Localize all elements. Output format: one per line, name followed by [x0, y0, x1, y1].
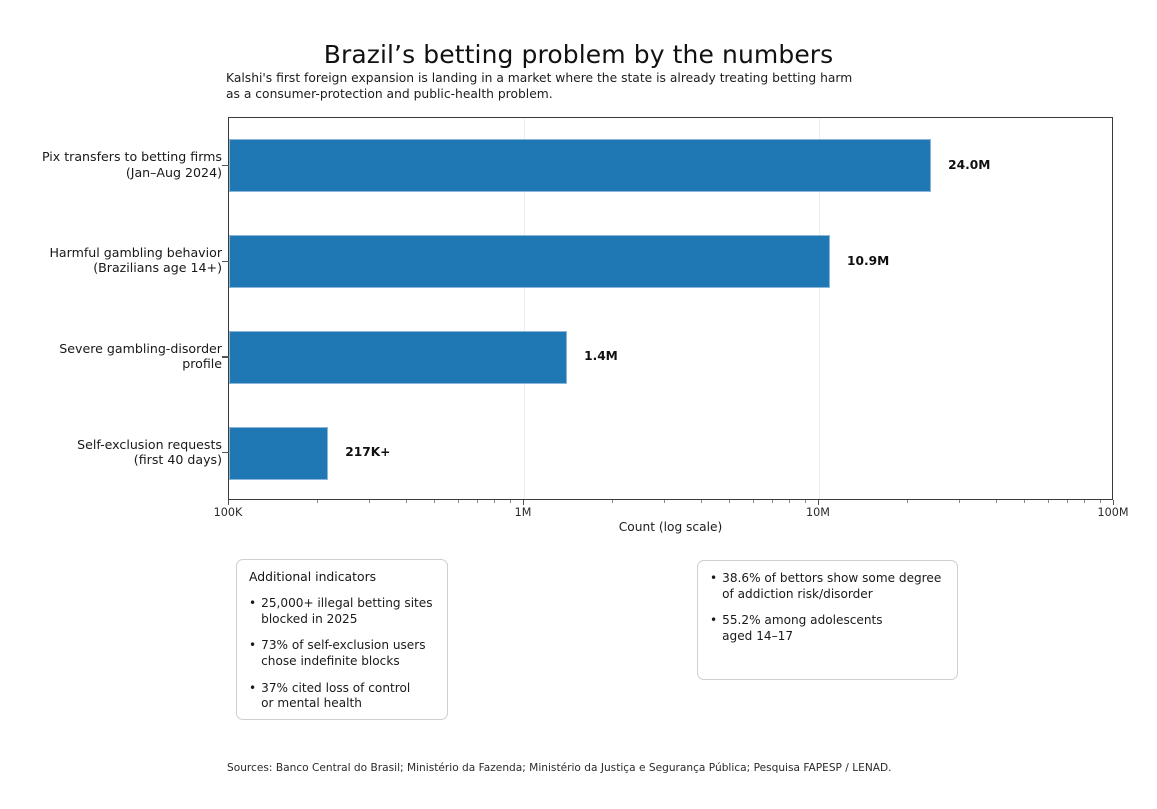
x-axis-tick-label: 100M: [1097, 506, 1128, 519]
x-axis-minor-tick: [772, 500, 773, 503]
y-axis-label: Severe gambling-disorder profile: [12, 341, 222, 372]
bullet-icon: •: [249, 638, 256, 669]
sources-footnote: Sources: Banco Central do Brasil; Minist…: [227, 762, 892, 774]
bar-value-label: 10.9M: [847, 255, 889, 267]
addiction-stats-box: •38.6% of bettors show some degree of ad…: [697, 560, 958, 680]
x-axis-minor-tick: [1048, 500, 1049, 503]
bar: [229, 427, 328, 480]
addiction-stats-list: •38.6% of bettors show some degree of ad…: [710, 571, 945, 645]
bullet-icon: •: [249, 596, 256, 627]
additional-indicator-item: •73% of self-exclusion users chose indef…: [249, 638, 435, 669]
x-axis-minor-tick: [996, 500, 997, 503]
addiction-stat-item: •38.6% of bettors show some degree of ad…: [710, 571, 945, 602]
additional-indicators-title: Additional indicators: [249, 570, 435, 585]
additional-indicator-item: •37% cited loss of control or mental hea…: [249, 681, 435, 712]
y-axis-tick: [222, 261, 229, 262]
x-axis-minor-tick: [317, 500, 318, 503]
additional-indicators-box: Additional indicators •25,000+ illegal b…: [236, 559, 448, 720]
x-axis-minor-tick: [907, 500, 908, 503]
additional-indicator-item-text: 37% cited loss of control or mental heal…: [261, 681, 410, 712]
additional-indicator-item-text: 73% of self-exclusion users chose indefi…: [261, 638, 425, 669]
addiction-stat-item-text: 38.6% of bettors show some degree of add…: [722, 571, 941, 602]
y-axis-category-labels: Pix transfers to betting firms (Jan–Aug …: [10, 117, 222, 500]
bar-value-label: 1.4M: [584, 350, 618, 362]
x-axis-label: Count (log scale): [228, 520, 1113, 534]
x-axis-tick: [818, 500, 819, 505]
x-axis-minor-tick: [434, 500, 435, 503]
additional-indicators-list: •25,000+ illegal betting sites blocked i…: [249, 596, 435, 712]
x-axis-minor-tick: [701, 500, 702, 503]
x-axis-minor-tick: [1084, 500, 1085, 503]
x-axis-tick-label: 10M: [806, 506, 830, 519]
x-axis-minor-tick: [959, 500, 960, 503]
bar-value-label: 24.0M: [948, 159, 990, 171]
x-axis-minor-tick: [612, 500, 613, 503]
bar: [229, 331, 567, 384]
x-axis-minor-tick: [477, 500, 478, 503]
x-axis-minor-tick: [753, 500, 754, 503]
bar: [229, 139, 931, 192]
title-block: Brazil’s betting problem by the numbers: [0, 40, 1157, 70]
x-axis-minor-tick: [458, 500, 459, 503]
x-axis-tick: [523, 500, 524, 505]
x-axis-minor-tick: [789, 500, 790, 503]
x-axis-minor-tick: [369, 500, 370, 503]
x-axis-minor-tick: [494, 500, 495, 503]
x-axis-minor-tick: [1067, 500, 1068, 503]
y-axis-tick: [222, 452, 229, 453]
x-axis-tick: [228, 500, 229, 505]
bar: [229, 235, 830, 288]
x-axis-minor-tick: [805, 500, 806, 503]
additional-indicator-item: •25,000+ illegal betting sites blocked i…: [249, 596, 435, 627]
x-axis-minor-tick: [1024, 500, 1025, 503]
x-axis-minor-tick: [729, 500, 730, 503]
bullet-icon: •: [710, 613, 717, 644]
x-axis-tick-label: 1M: [515, 506, 532, 519]
x-axis-tick: [1113, 500, 1114, 505]
bullet-icon: •: [710, 571, 717, 602]
y-axis-tick: [222, 165, 229, 166]
y-axis-label: Harmful gambling behavior (Brazilians ag…: [12, 245, 222, 276]
addiction-stat-item: •55.2% among adolescents aged 14–17: [710, 613, 945, 644]
y-axis-label: Pix transfers to betting firms (Jan–Aug …: [12, 149, 222, 180]
x-axis-tick-label: 100K: [214, 506, 243, 519]
plot-area: [228, 117, 1113, 500]
page-title: Brazil’s betting problem by the numbers: [0, 40, 1157, 70]
x-axis-minor-tick: [406, 500, 407, 503]
x-axis-minor-tick: [510, 500, 511, 503]
y-axis-label: Self-exclusion requests (first 40 days): [12, 437, 222, 468]
x-axis-minor-tick: [664, 500, 665, 503]
x-axis-minor-tick: [1100, 500, 1101, 503]
additional-indicator-item-text: 25,000+ illegal betting sites blocked in…: [261, 596, 432, 627]
addiction-stat-item-text: 55.2% among adolescents aged 14–17: [722, 613, 882, 644]
bar-value-label: 217K+: [345, 446, 390, 458]
bullet-icon: •: [249, 681, 256, 712]
y-axis-tick: [222, 356, 229, 357]
chart-subtitle: Kalshi's first foreign expansion is land…: [226, 70, 926, 102]
